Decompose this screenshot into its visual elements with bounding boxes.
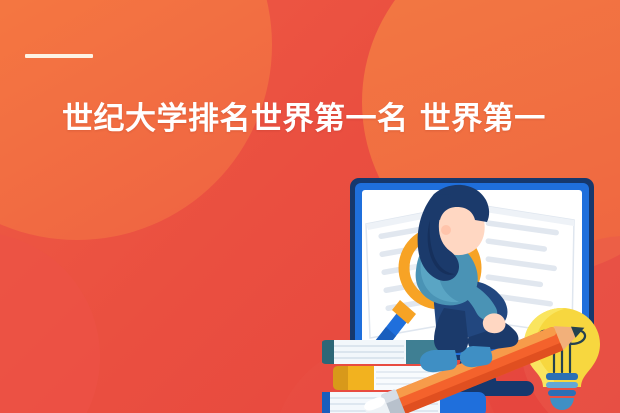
decorative-rule [25,54,93,58]
page-title: 世纪大学排名世界第一名 世界第一 [62,100,546,139]
background-circle-bottom-left [0,232,100,413]
promo-banner: 世纪大学排名世界第一名 世界第一 [0,0,620,413]
online-learning-illustration [322,168,620,413]
